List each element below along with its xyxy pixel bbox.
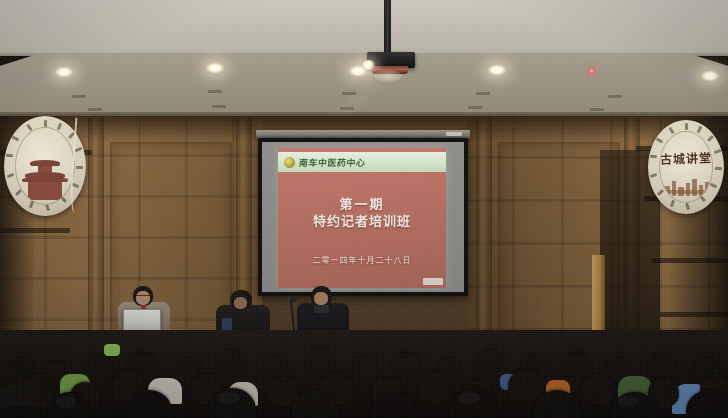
- ceiling-vent-6: [88, 108, 102, 111]
- wall-medallion-right: 古城讲堂: [648, 120, 724, 214]
- slide-corner-tag: [423, 278, 443, 285]
- wall-pilaster-right-inner: [476, 118, 492, 350]
- panelist-center-face: [234, 297, 247, 309]
- audience-head: [392, 352, 420, 378]
- ceiling-downlight-5: [700, 70, 720, 82]
- audience-head: [648, 354, 676, 380]
- medallion-right-art: 古城讲堂: [659, 131, 713, 203]
- projector-mount-pole: [384, 0, 391, 56]
- ceiling-vent-8: [340, 107, 354, 110]
- skyline-icon: [660, 170, 712, 196]
- medallion-left-art: [15, 127, 75, 205]
- audience-head: [562, 352, 591, 378]
- audience-head: [305, 348, 335, 376]
- panelist-left-glasses-icon: [136, 295, 150, 299]
- slide-organization-band: 南车中医药中心: [278, 152, 446, 172]
- presentation-slide: 南车中医药中心 第一期 特约记者培训班 二零一四年十月二十八日: [278, 148, 446, 288]
- lecture-hall-photo: 古城讲堂 南车中医药中心: [0, 0, 728, 418]
- audience-head: [216, 350, 246, 378]
- ceiling-downlight-1: [54, 66, 74, 78]
- audience-head: [418, 372, 451, 403]
- ceiling-vent-5: [608, 95, 622, 98]
- audience-head: [582, 374, 614, 404]
- audience-crowd: [0, 330, 728, 418]
- ceiling-downlight-4: [487, 64, 507, 76]
- pagoda-icon: [22, 160, 68, 200]
- projector-lens-icon: [363, 60, 375, 70]
- medallion-right-label: 古城讲堂: [660, 149, 713, 168]
- panelist-right-face: [314, 292, 328, 305]
- audience-head: [352, 356, 378, 380]
- audience-head: [476, 350, 505, 377]
- panelist-right-collar: [314, 305, 329, 313]
- slide-date: 二零一四年十月二十八日: [278, 255, 446, 266]
- ceiling-vent-10: [590, 108, 604, 111]
- ceiling-vent-4: [476, 92, 490, 95]
- audience-garment-accent: [104, 344, 120, 356]
- slide-title-line2: 特约记者培训班: [278, 214, 446, 231]
- slide-title-line1: 第一期: [278, 198, 446, 214]
- ceiling-downlight-2: [205, 62, 225, 74]
- audience-head: [86, 356, 113, 381]
- screen-surface: 南车中医药中心 第一期 特约记者培训班 二零一四年十月二十八日: [262, 142, 464, 292]
- screen-roller-tab: [446, 132, 462, 136]
- ceiling-indicator-light: [588, 68, 595, 74]
- slide-organization-name: 南车中医药中心: [298, 156, 366, 169]
- slide-title: 第一期 特约记者培训班: [278, 198, 446, 231]
- ceiling-upper-surface: [0, 0, 728, 56]
- projector-glow: [374, 70, 402, 82]
- ceiling-vent-1: [72, 95, 86, 98]
- table-microphone-head-icon: [291, 296, 296, 302]
- audience-head: [508, 370, 542, 402]
- ceiling-vent-7: [212, 105, 226, 108]
- ceiling-vent-2: [208, 90, 222, 93]
- ceiling-vent-3: [342, 92, 356, 95]
- projection-screen: 南车中医药中心 第一期 特约记者培训班 二零一四年十月二十八日: [258, 138, 468, 296]
- organization-emblem-icon: [284, 157, 295, 168]
- ceiling-vent-9: [468, 106, 482, 109]
